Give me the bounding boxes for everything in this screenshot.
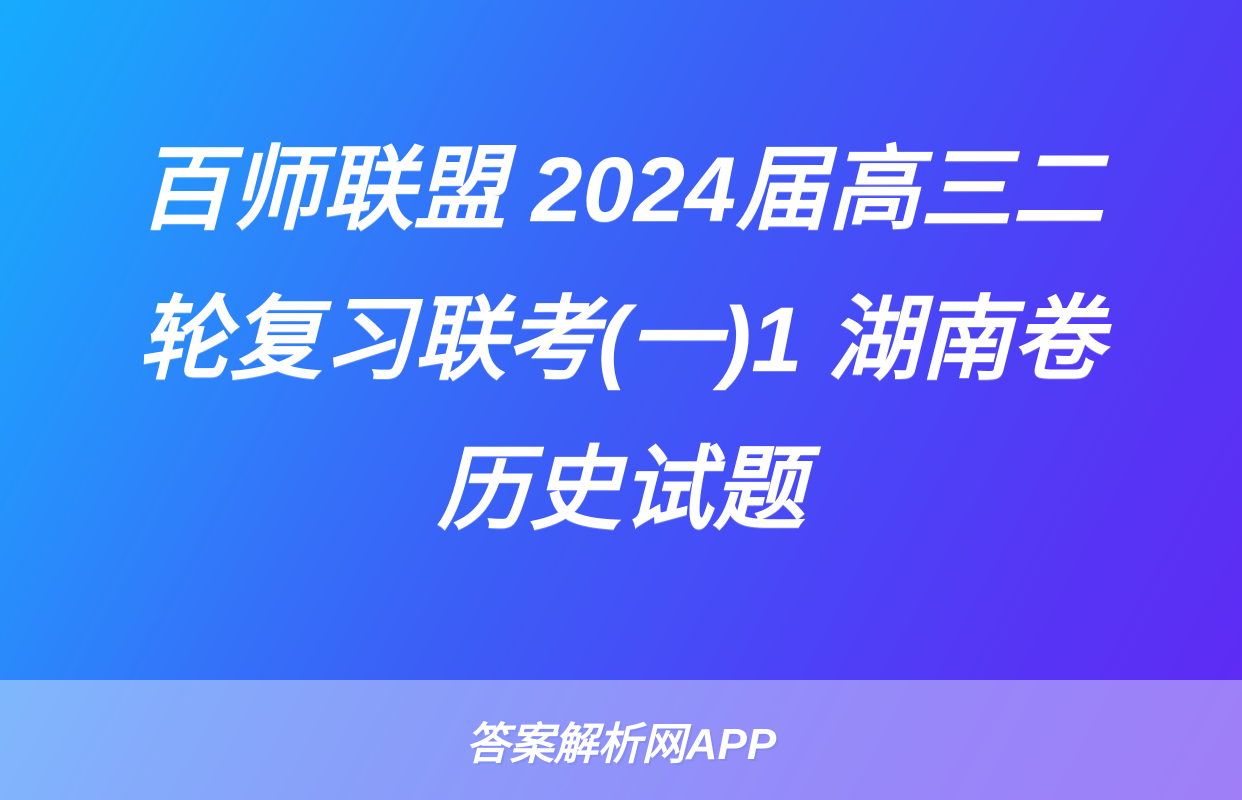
title-line-1: 百师联盟 2024届高三二 (138, 115, 1104, 265)
watermark-band: 答案解析网APP (0, 680, 1242, 800)
title-line-3: 历史试题 (437, 415, 805, 565)
exam-cover-poster: 百师联盟 2024届高三二 轮复习联考(一)1 湖南卷 历史试题 答案解析网AP… (0, 0, 1242, 800)
title-block: 百师联盟 2024届高三二 轮复习联考(一)1 湖南卷 历史试题 (0, 0, 1242, 680)
watermark-label: 答案解析网APP (0, 680, 1242, 800)
title-line-2: 轮复习联考(一)1 湖南卷 (138, 265, 1104, 415)
